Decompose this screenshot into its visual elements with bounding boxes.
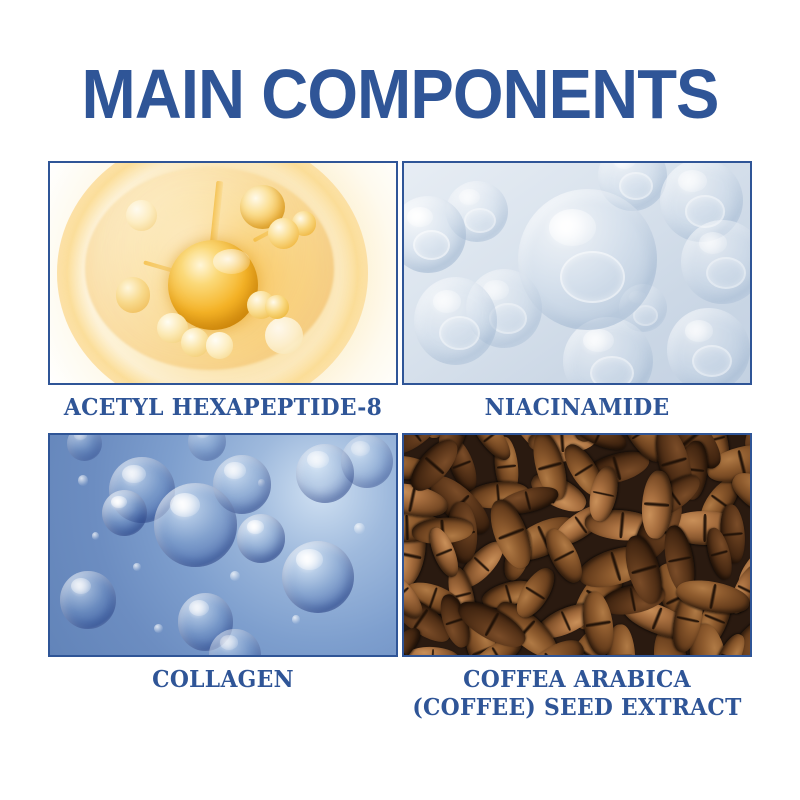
water-droplet <box>78 475 88 486</box>
component-label-acetyl-hexapeptide-8: ACETYL HEXAPEPTIDE-8 <box>57 394 390 421</box>
bubble <box>237 514 285 562</box>
components-grid: ACETYL HEXAPEPTIDE-8 NIACINAMIDE <box>48 161 752 731</box>
molecule-sphere <box>265 295 289 319</box>
molecule-sphere <box>116 277 151 312</box>
component-card-niacinamide[interactable]: NIACINAMIDE <box>402 161 752 421</box>
main-components-infographic: MAIN COMPONENTS <box>0 0 800 800</box>
molecule-sphere <box>181 328 209 357</box>
molecule-sphere <box>268 218 299 249</box>
bubble <box>296 444 355 503</box>
bubble <box>60 571 115 628</box>
component-label-collagen: COLLAGEN <box>57 666 390 693</box>
bubble-primary <box>154 483 237 567</box>
component-label-niacinamide: NIACINAMIDE <box>411 394 744 421</box>
bubble <box>667 308 750 385</box>
bubble <box>282 541 355 614</box>
bubble <box>102 490 147 536</box>
coffee-beans-photo <box>402 433 752 657</box>
water-droplet <box>92 532 100 540</box>
water-droplet <box>230 571 240 581</box>
page-title: MAIN COMPONENTS <box>28 58 772 130</box>
component-label-coffea-arabica: COFFEA ARABICA (COFFEE) SEED EXTRACT <box>411 666 744 722</box>
silver-bubbles-photo <box>402 161 752 385</box>
blue-water-bubbles-photo <box>48 433 398 657</box>
molecule-sphere <box>206 332 234 358</box>
coffee-bean-field <box>404 435 750 655</box>
component-card-coffea-arabica[interactable]: COFFEA ARABICA (COFFEE) SEED EXTRACT <box>402 433 752 722</box>
water-droplet <box>354 523 364 534</box>
component-card-collagen[interactable]: COLLAGEN <box>48 433 398 693</box>
bubble-primary <box>518 189 656 330</box>
component-card-acetyl-hexapeptide-8[interactable]: ACETYL HEXAPEPTIDE-8 <box>48 161 398 421</box>
golden-serum-molecule-photo <box>48 161 398 385</box>
molecule-sphere <box>265 317 303 354</box>
